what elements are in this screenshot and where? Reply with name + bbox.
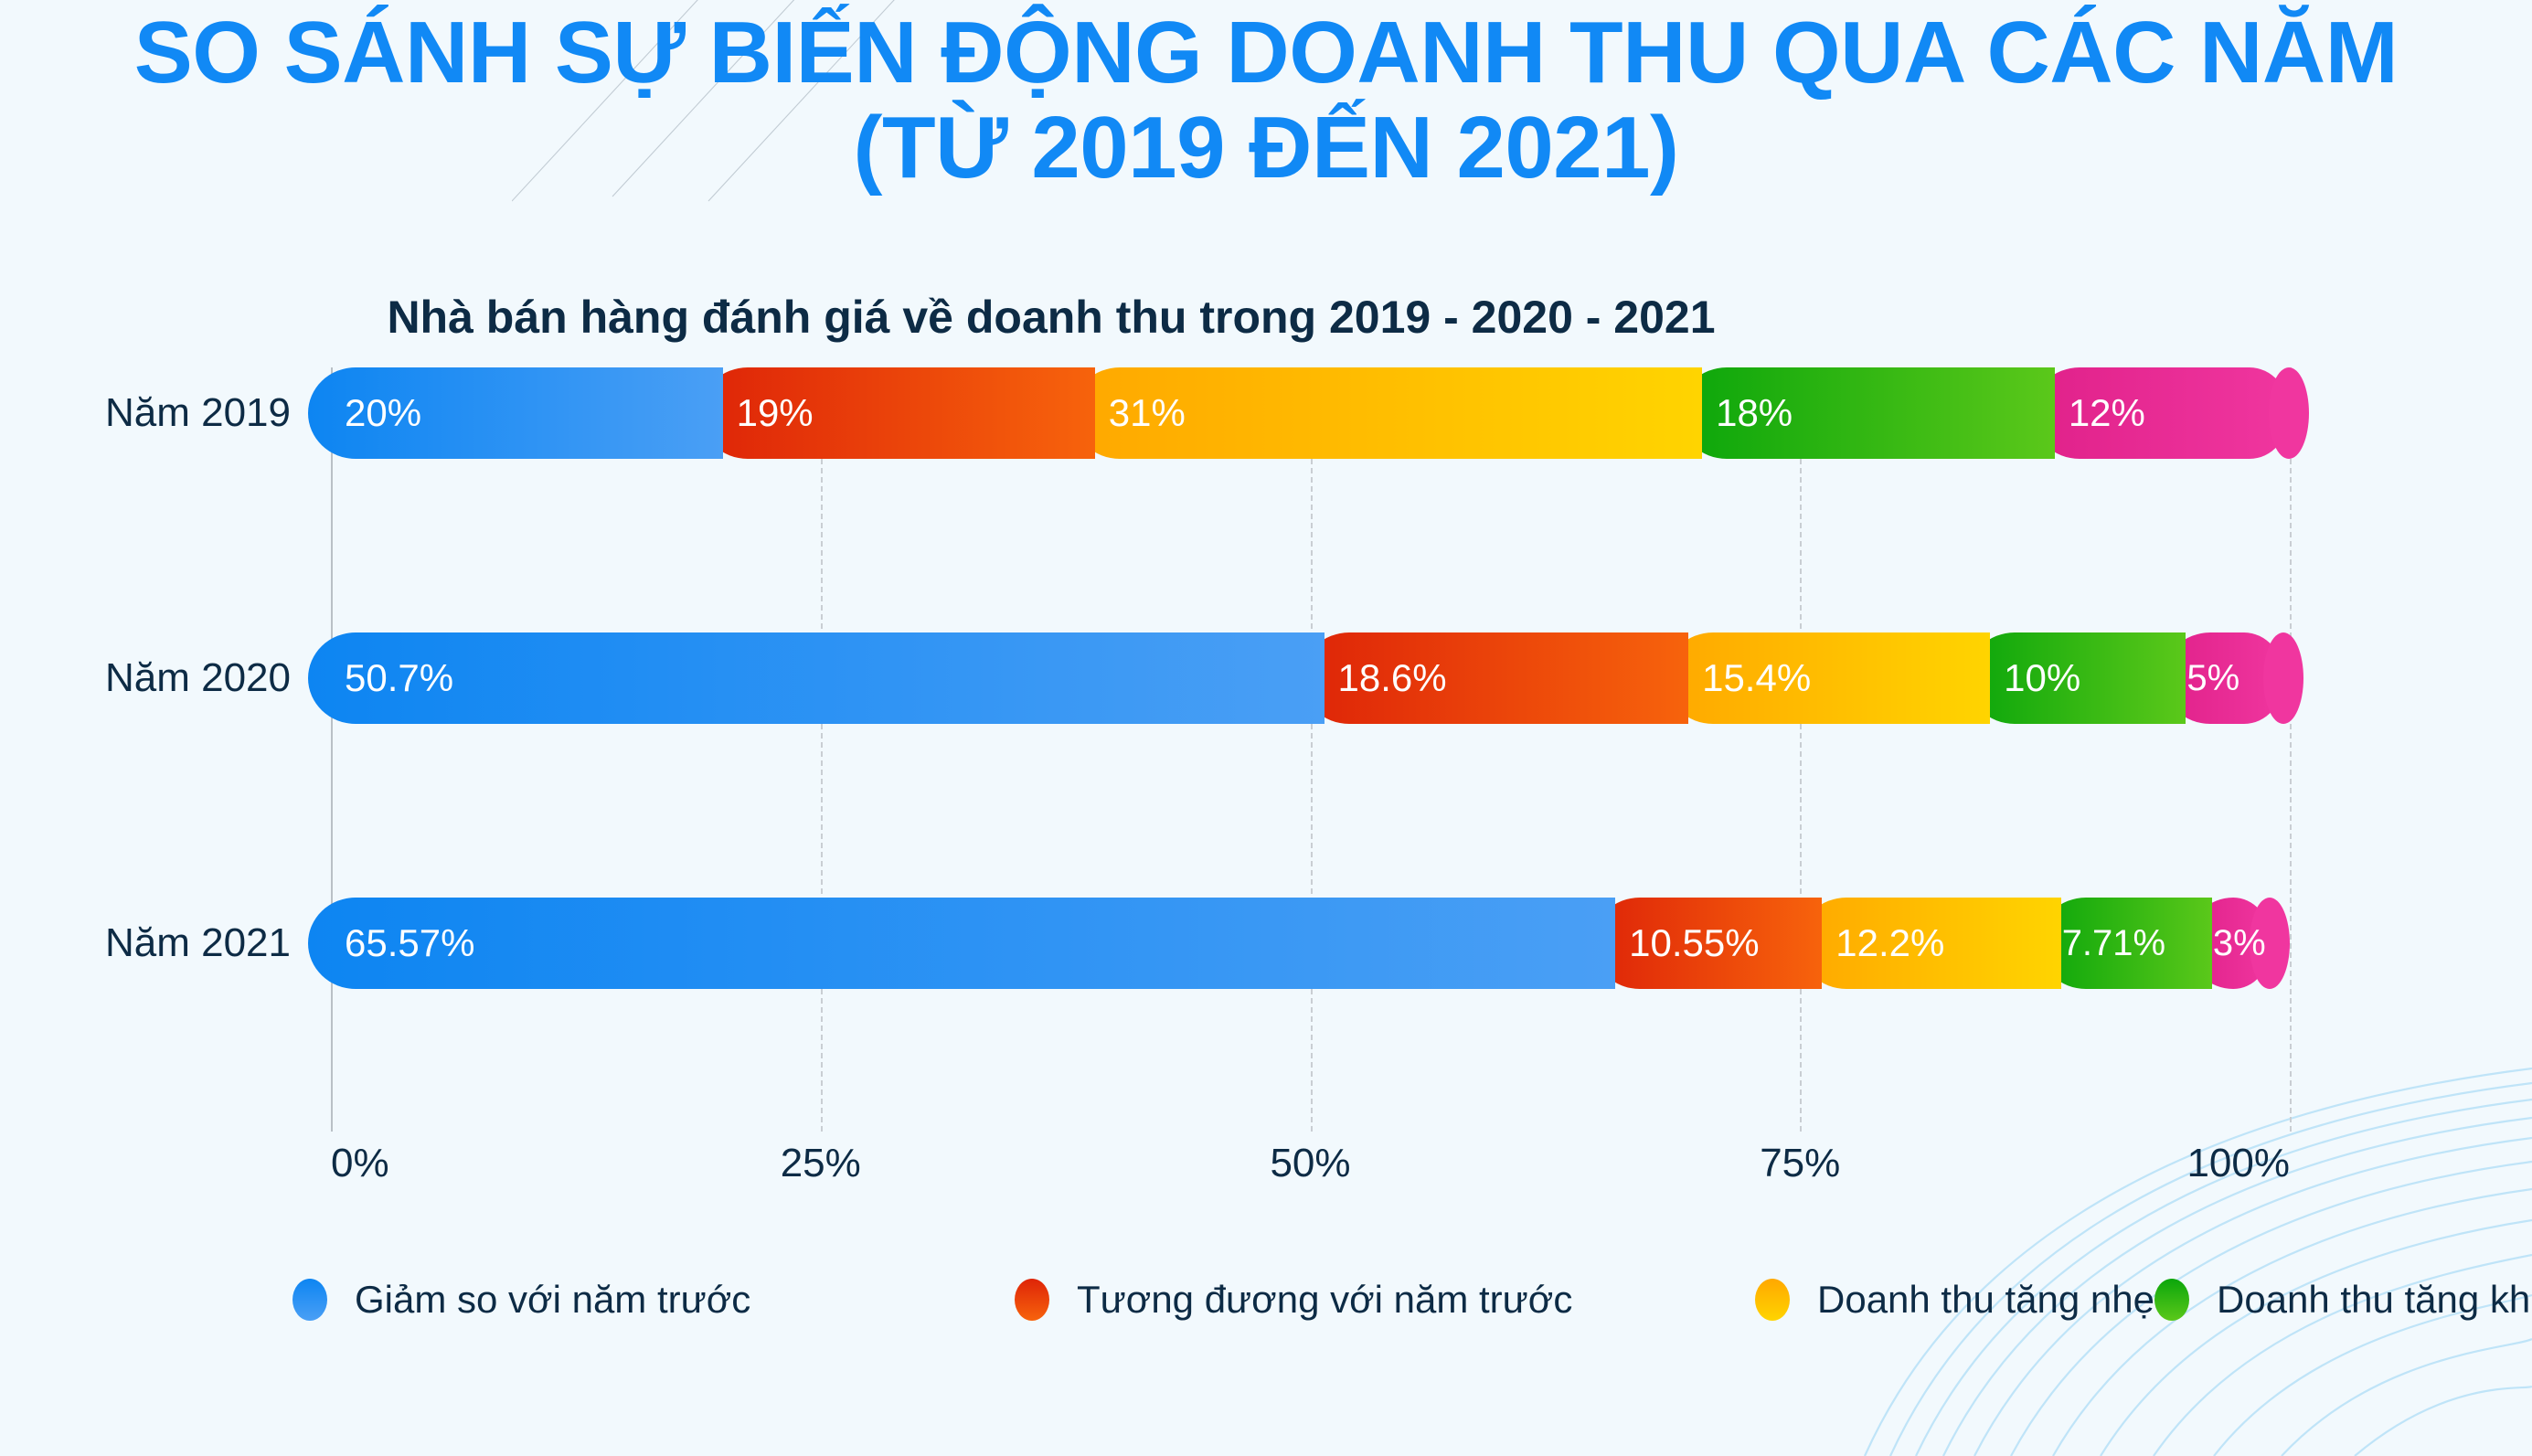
bar-segment: 7.71% (2038, 898, 2212, 989)
bar-segment: 12% (2032, 367, 2290, 459)
bar-segment: 50.7% (308, 632, 1325, 724)
gridline (1800, 367, 1802, 1132)
legend-label: Doanh thu tăng khá 10% - 30% (2217, 1278, 2532, 1322)
bar-segment: 19% (700, 367, 1095, 459)
stacked-bar: 5%10%15.4%18.6%50.7% (331, 632, 2290, 724)
segment-value-label: 5% (2186, 658, 2239, 699)
chart-row: Năm 20213%7.71%12.2%10.55%65.57% (331, 898, 2290, 989)
chart-subtitle: Nhà bán hàng đánh giá về doanh thu trong… (0, 291, 2102, 344)
bar-segment: 18% (1679, 367, 2055, 459)
segment-value-label: 18.6% (1338, 656, 1447, 700)
legend-item[interactable]: Doanh thu tăng nhẹ (1755, 1259, 2154, 1340)
x-axis-tick-label: 75% (1760, 1141, 1840, 1186)
bar-segment: 20% (308, 367, 723, 459)
chart-row: Năm 201912%18%31%19%20% (331, 367, 2290, 459)
legend-color-swatch-icon (293, 1279, 327, 1321)
segment-value-label: 12% (2069, 391, 2145, 435)
x-axis-tick-label: 50% (1270, 1141, 1350, 1186)
plot-area: Năm 201912%18%31%19%20%Năm 20205%10%15.4… (331, 367, 2290, 1132)
chart-legend: Giảm so với năm trướcTương đương với năm… (293, 1259, 2441, 1340)
x-axis-tick-label: 100% (2186, 1141, 2290, 1186)
bar-segment: 31% (1072, 367, 1702, 459)
legend-item[interactable]: Tương đương với năm trước (1015, 1259, 1755, 1340)
bar-end-cap (2269, 367, 2309, 459)
gridline (1311, 367, 1313, 1132)
bar-segment: 15.4% (1665, 632, 1990, 724)
category-label: Năm 2019 (105, 367, 291, 459)
segment-value-label: 65.57% (345, 921, 474, 965)
bar-segment: 18.6% (1302, 632, 1689, 724)
gridline (821, 367, 823, 1132)
legend-label: Tương đương với năm trước (1077, 1278, 1572, 1322)
legend-color-swatch-icon (1015, 1279, 1049, 1321)
segment-value-label: 12.2% (1835, 921, 1944, 965)
category-label: Năm 2020 (105, 632, 291, 724)
bar-segment: 12.2% (1799, 898, 2060, 989)
stacked-bar: 3%7.71%12.2%10.55%65.57% (331, 898, 2290, 989)
x-axis-tick-labels: 0%25%50%75%100% (331, 1141, 2290, 1205)
segment-value-label: 19% (737, 391, 814, 435)
infographic-canvas: SO SÁNH SỰ BIẾN ĐỘNG DOANH THU QUA CÁC N… (0, 0, 2532, 1456)
bar-segment: 10% (1967, 632, 2186, 724)
segment-value-label: 10.55% (1629, 921, 1759, 965)
gridline (2290, 367, 2292, 1132)
segment-value-label: 10% (2004, 656, 2080, 700)
segment-value-label: 3% (2213, 923, 2266, 964)
legend-label: Giảm so với năm trước (355, 1278, 750, 1322)
x-axis-tick-label: 0% (331, 1141, 389, 1186)
segment-value-label: 50.7% (345, 656, 453, 700)
bar-segment: 65.57% (308, 898, 1615, 989)
gridline (331, 367, 333, 1132)
bar-segment: 10.55% (1592, 898, 1822, 989)
segment-value-label: 20% (345, 391, 421, 435)
legend-item[interactable]: Doanh thu tăng khá 10% - 30% (2154, 1259, 2532, 1340)
x-axis-tick-label: 25% (781, 1141, 861, 1186)
legend-color-swatch-icon (2154, 1279, 2189, 1321)
stacked-bar: 12%18%31%19%20% (331, 367, 2290, 459)
chart-row: Năm 20205%10%15.4%18.6%50.7% (331, 632, 2290, 724)
legend-color-swatch-icon (1755, 1279, 1790, 1321)
segment-value-label: 15.4% (1702, 656, 1811, 700)
category-label: Năm 2021 (105, 898, 291, 989)
segment-value-label: 31% (1109, 391, 1186, 435)
legend-item[interactable]: Giảm so với năm trước (293, 1259, 1015, 1340)
page-title: SO SÁNH SỰ BIẾN ĐỘNG DOANH THU QUA CÁC N… (0, 5, 2532, 195)
segment-value-label: 7.71% (2062, 923, 2165, 964)
bar-end-cap (2263, 632, 2303, 724)
segment-value-label: 18% (1716, 391, 1793, 435)
legend-label: Doanh thu tăng nhẹ (1817, 1278, 2154, 1322)
